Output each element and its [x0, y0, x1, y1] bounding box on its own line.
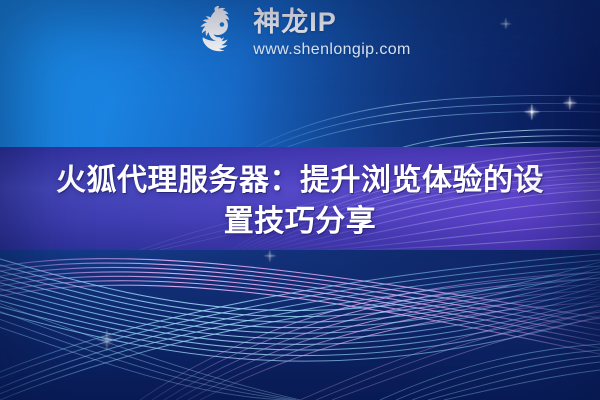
banner-image: 神龙IP www.shenlongip.com 火狐代理服务器：提升浏览体验的设…: [0, 0, 600, 400]
page-title: 火狐代理服务器：提升浏览体验的设 置技巧分享: [20, 160, 580, 242]
page-title-line-2: 置技巧分享: [20, 201, 580, 242]
page-title-line-1: 火狐代理服务器：提升浏览体验的设: [20, 160, 580, 201]
